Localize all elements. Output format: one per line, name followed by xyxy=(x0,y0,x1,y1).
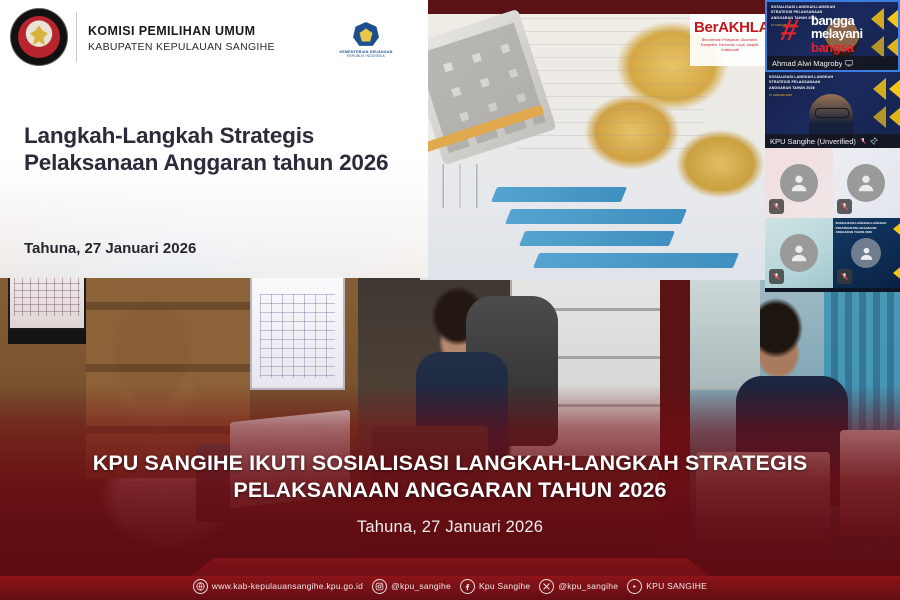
avatar xyxy=(780,164,818,202)
footer-label: www.kab-kepulauansangihe.kpu.go.id xyxy=(212,581,363,591)
youtube-icon xyxy=(627,579,642,594)
footer-label: @kpu_sangihe xyxy=(558,581,618,591)
video-tile-kpu-sangihe[interactable]: SOSIALISASI LANGKAH-LANGKAH STRATEGIS PE… xyxy=(765,72,900,148)
berakhlak-subtitle: Berorientasi Pelayanan, Akuntabel, Kompe… xyxy=(694,38,766,53)
globe-icon xyxy=(193,579,208,594)
slide-date: Tahuna, 27 Januari 2026 xyxy=(24,240,196,257)
presentation-slide: KOMISI PEMILIHAN UMUM KABUPATEN KEPULAUA… xyxy=(0,0,428,278)
avatar xyxy=(851,238,881,268)
person-icon xyxy=(788,242,810,264)
footer-item-facebook[interactable]: Kpu Sangihe xyxy=(460,579,530,594)
footer-label: @kpu_sangihe xyxy=(391,581,451,591)
microphone-muted-icon xyxy=(840,272,849,281)
person-icon xyxy=(788,172,810,194)
logo-ring xyxy=(10,8,68,66)
screen-share-icon xyxy=(845,59,853,67)
footer-social-list: www.kab-kepulauansangihe.kpu.go.id @kpu_… xyxy=(0,574,900,598)
person-icon xyxy=(858,245,875,262)
mute-badge xyxy=(769,269,784,284)
pin-icon[interactable] xyxy=(870,137,878,145)
footer-item-youtube[interactable]: KPU SANGIHE xyxy=(627,579,707,594)
ministry-country: REPUBLIK INDONESIA xyxy=(336,54,396,58)
x-twitter-icon xyxy=(539,579,554,594)
headline-line-2: PELAKSANAAN ANGGARAN TAHUN 2026 xyxy=(70,477,830,504)
headline-line-1: KPU SANGIHE IKUTI SOSIALISASI LANGKAH-LA… xyxy=(70,450,830,477)
participant-name: KPU Sangihe (Unverified) xyxy=(770,137,856,146)
spreadsheet-paper xyxy=(516,18,706,158)
tile-slide-heading: SOSIALISASI LANGKAH-LANGKAH STRATEGIS PE… xyxy=(836,221,892,235)
banner-date: Tahuna, 27 Januari 2026 xyxy=(70,518,830,537)
organization-text: KOMISI PEMILIHAN UMUM KABUPATEN KEPULAUA… xyxy=(88,24,275,53)
berakhlak-title: BerAKHLAK xyxy=(694,20,766,35)
tile-name-bar: KPU Sangihe (Unverified) xyxy=(765,134,900,148)
video-conference-sidebar: SOSIALISASI LANGKAH-LANGKAH STRATEGIS PE… xyxy=(765,0,900,292)
video-tile-avatar-1[interactable] xyxy=(765,148,833,218)
microphone-muted-icon xyxy=(772,202,781,211)
bar-chart-print xyxy=(474,178,764,274)
person-icon xyxy=(855,172,877,194)
logo-divider xyxy=(76,12,77,62)
facebook-icon xyxy=(460,579,475,594)
footer-item-website[interactable]: www.kab-kepulauansangihe.kpu.go.id xyxy=(193,579,363,594)
tile-name-bar: Ahmad Alwi Magroby xyxy=(767,56,898,70)
organization-region: KABUPATEN KEPULAUAN SANGIHE xyxy=(88,41,275,53)
berakhlak-badge: BerAKHLAK Berorientasi Pelayanan, Akunta… xyxy=(690,14,770,66)
video-tile-avatar-4[interactable]: SOSIALISASI LANGKAH-LANGKAH STRATEGIS PE… xyxy=(833,218,900,288)
tile-slide-heading: SOSIALISASI LANGKAH-LANGKAH STRATEGIS PE… xyxy=(769,75,843,91)
poster-canvas: BerAKHLAK Berorientasi Pelayanan, Akunta… xyxy=(0,0,900,600)
banner-headline: KPU SANGIHE IKUTI SOSIALISASI LANGKAH-LA… xyxy=(70,450,830,504)
video-tile-speaker[interactable]: SOSIALISASI LANGKAH-LANGKAH STRATEGIS PE… xyxy=(765,0,900,72)
mute-badge xyxy=(837,269,852,284)
calendar-footer-strip xyxy=(8,330,86,344)
video-tile-grid: SOSIALISASI LANGKAH-LANGKAH STRATEGIS PE… xyxy=(765,148,900,288)
video-tile-avatar-3[interactable] xyxy=(765,218,833,288)
slogan-line-3: bangsa xyxy=(811,41,863,54)
kpu-logo xyxy=(10,8,68,66)
kemenkeu-emblem-icon xyxy=(353,22,379,48)
microphone-muted-icon xyxy=(772,272,781,281)
participant-name: Ahmad Alwi Magroby xyxy=(772,59,842,68)
footer-bar: www.kab-kepulauansangihe.kpu.go.id @kpu_… xyxy=(0,558,900,600)
slide-title: Langkah-Langkah Strategis Pelaksanaan An… xyxy=(24,122,414,176)
avatar xyxy=(780,234,818,272)
organization-name: KOMISI PEMILIHAN UMUM xyxy=(88,24,275,38)
slogan-line-2: melayani xyxy=(811,27,863,40)
slogan-line-1: bangga xyxy=(811,14,863,27)
mute-badge xyxy=(837,199,852,214)
slogan-group: bangga melayani bangsa xyxy=(811,14,863,54)
footer-item-instagram[interactable]: @kpu_sangihe xyxy=(372,579,451,594)
mute-badge xyxy=(769,199,784,214)
avatar xyxy=(847,164,885,202)
instagram-icon xyxy=(372,579,387,594)
microphone-muted-icon[interactable] xyxy=(859,137,867,145)
wall-panel xyxy=(690,280,760,390)
microphone-muted-icon xyxy=(840,202,849,211)
video-tile-avatar-2[interactable] xyxy=(833,148,900,218)
footer-label: Kpu Sangihe xyxy=(479,581,530,591)
footer-label: KPU SANGIHE xyxy=(646,581,707,591)
footer-item-x[interactable]: @kpu_sangihe xyxy=(539,579,618,594)
kemenkeu-logo: KEMENTERIAN KEUANGAN REPUBLIK INDONESIA xyxy=(336,22,396,58)
slide-header: KOMISI PEMILIHAN UMUM KABUPATEN KEPULAUA… xyxy=(0,0,428,74)
whiteboard-chart xyxy=(250,270,345,390)
